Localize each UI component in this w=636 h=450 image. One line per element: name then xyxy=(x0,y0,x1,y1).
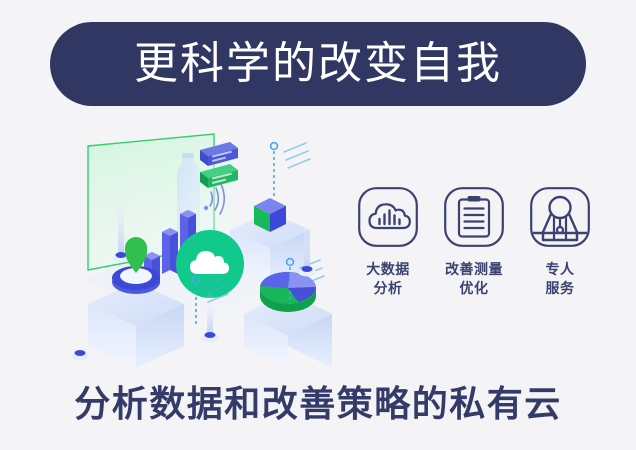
clipboard-icon xyxy=(443,186,505,248)
page-title: 更科学的改变自我 xyxy=(134,42,502,86)
left-stand-base xyxy=(71,350,89,361)
title-banner: 更科学的改变自我 xyxy=(50,22,586,106)
hero-illustration xyxy=(58,128,358,368)
feature-list: 大数据 分析 改善测量 优化 xyxy=(352,186,596,299)
feature-big-data-analysis[interactable]: 大数据 分析 xyxy=(352,186,424,299)
feature-label: 改善测量 优化 xyxy=(445,261,503,299)
feature-dedicated-service[interactable]: 专人 服务 xyxy=(524,186,596,299)
feature-measurement-optimization[interactable]: 改善测量 优化 xyxy=(438,186,510,299)
support-agent-icon xyxy=(529,186,591,248)
dashed-connector-lines xyxy=(271,143,310,198)
feature-label: 大数据 分析 xyxy=(366,261,410,299)
page-caption: 分析数据和改善策略的私有云 xyxy=(0,382,636,428)
feature-label: 专人 服务 xyxy=(546,261,575,299)
poster-canvas: 更科学的改变自我 xyxy=(0,0,636,450)
cloud-bar-chart-icon xyxy=(357,186,419,248)
cloud-badge xyxy=(176,230,244,298)
isometric-pie-chart xyxy=(260,272,316,312)
